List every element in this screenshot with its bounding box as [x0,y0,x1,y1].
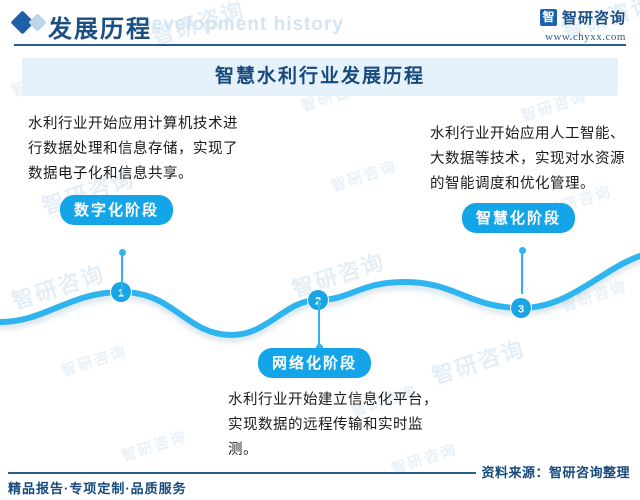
connector-line [121,252,123,294]
stage-description: 水利行业开始建立信息化平台，实现数据的远程传输和实时监测。 [228,388,438,463]
connector-dot [519,247,526,254]
stage-label-digitalization[interactable]: 数字化阶段 [60,195,173,225]
stage-description: 水利行业开始应用计算机技术进行数据处理和信息存储，实现了数据电子化和信息共享。 [28,112,238,187]
chart-title: 智慧水利行业发展历程 [22,58,618,96]
connector-line [318,300,320,348]
footer-tagline: 精品报告·专项定制·品质服务 [8,478,187,497]
brand-logo[interactable]: 智 智研咨询 www.chyxx.com [540,7,626,43]
watermark-text: 智研咨询 [328,155,399,196]
stage-description: 水利行业开始应用人工智能、大数据等技术，实现对水资源的智能调度和优化管理。 [430,122,630,197]
timeline-marker-3[interactable]: 3 [510,297,532,319]
stage-label-networking[interactable]: 网络化阶段 [258,348,371,378]
timeline-wave: 1 2 3 [0,240,640,350]
logo-mark-icon: 智 [540,9,557,26]
page-title: 发展历程 [48,9,152,44]
connector-line [521,250,523,294]
logo-name: 智研咨询 [562,7,626,28]
timeline-stage-3: 水利行业开始应用人工智能、大数据等技术，实现对水资源的智能调度和优化管理。 智慧… [430,122,630,233]
connector-dot [119,249,126,256]
timeline-stage-1: 水利行业开始应用计算机技术进行数据处理和信息存储，实现了数据电子化和信息共享。 … [28,112,238,225]
footer-source: 资料来源：智研咨询整理 [481,462,630,481]
stage-label-intelligent[interactable]: 智慧化阶段 [462,203,575,233]
chart-title-banner: 智慧水利行业发展历程 [22,58,618,96]
watermark-text: 智研咨询 [118,425,189,466]
chevron-right-icon [28,13,46,31]
footer-divider [8,472,476,474]
timeline-marker-number: 3 [518,304,524,316]
page-header: Development history 发展历程 智 智研咨询 www.chyx… [0,0,640,50]
header-subtitle: Development history [137,14,344,36]
timeline-stage-2: 网络化阶段 水利行业开始建立信息化平台，实现数据的远程传输和实时监测。 [228,348,438,463]
logo-url[interactable]: www.chyxx.com [540,31,626,43]
header-divider [14,44,626,46]
